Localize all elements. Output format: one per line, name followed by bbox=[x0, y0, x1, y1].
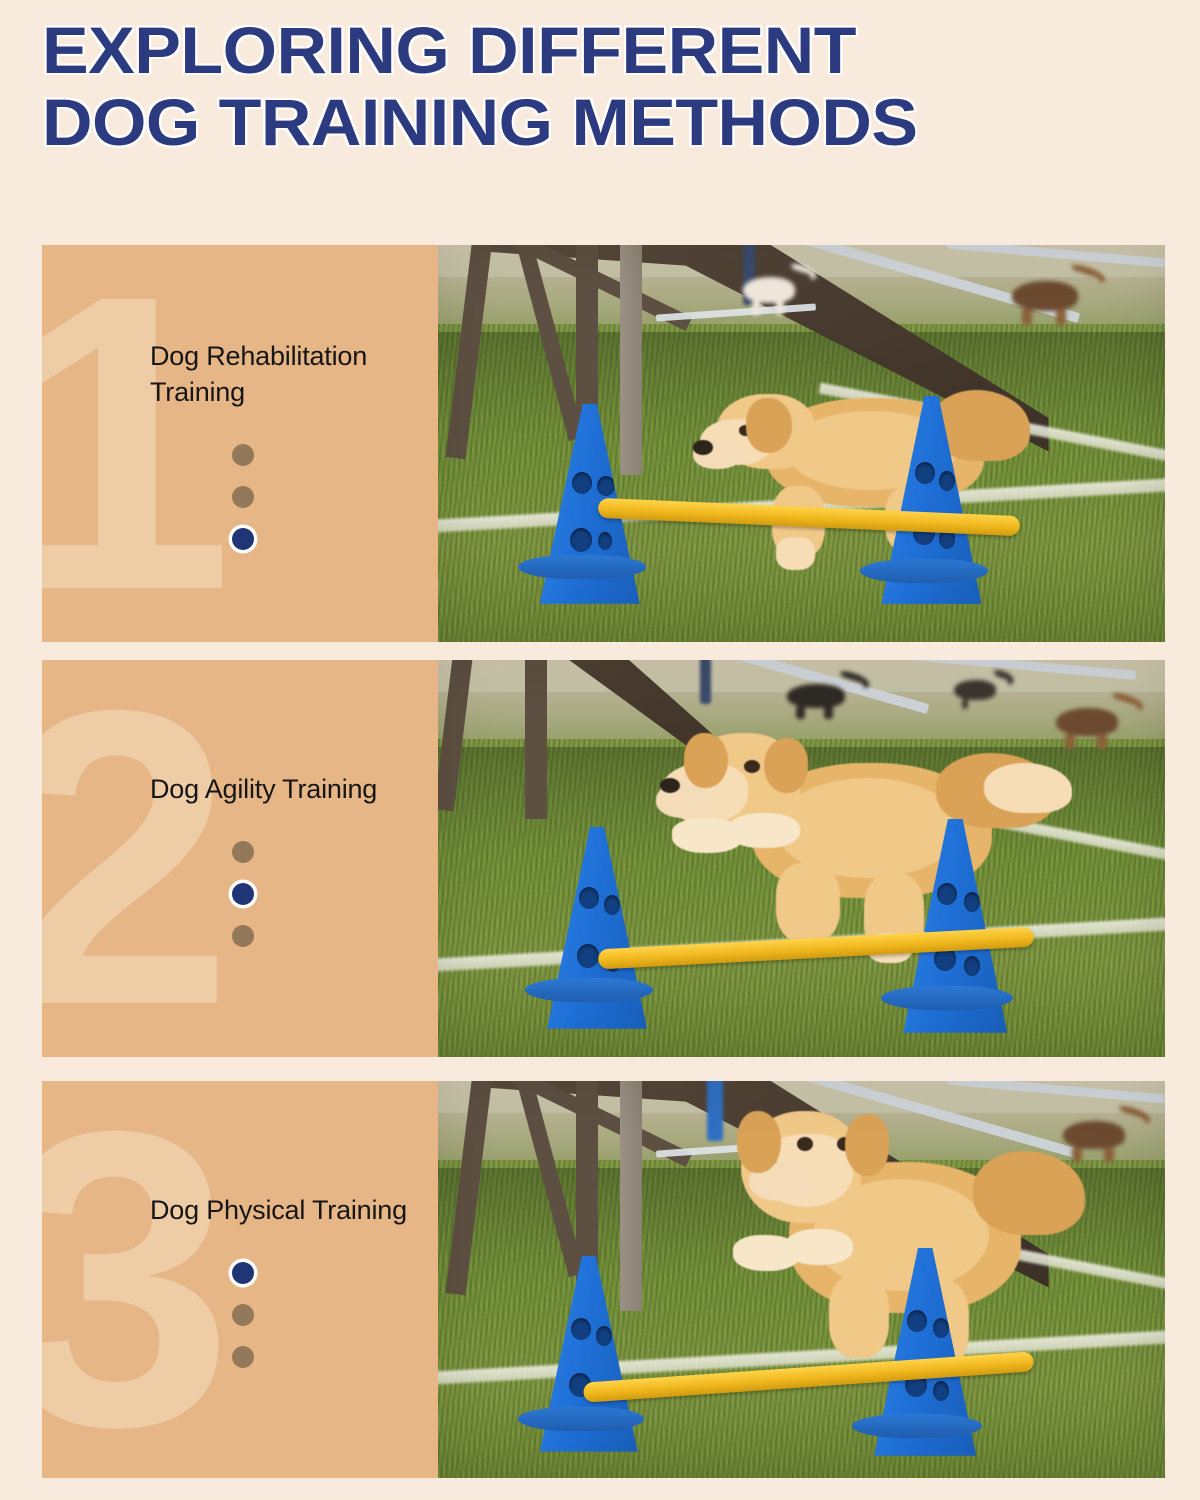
page-title-line-1: EXPLORING DIFFERENT bbox=[42, 14, 1200, 86]
card-info-panel: 3 Dog Physical Training bbox=[42, 1081, 438, 1478]
background-dog-icon bbox=[954, 680, 996, 700]
card-content: Dog Rehabilitation Training bbox=[150, 245, 438, 642]
background-dog-icon bbox=[1012, 281, 1078, 311]
cone-base-icon bbox=[852, 1414, 982, 1438]
card-photo bbox=[438, 1081, 1165, 1478]
ramp-post-icon bbox=[620, 245, 642, 475]
background-dog-icon bbox=[1056, 708, 1118, 736]
step-dot[interactable] bbox=[232, 486, 254, 508]
background-person-icon bbox=[700, 660, 711, 704]
card-label: Dog Physical Training bbox=[150, 1192, 438, 1228]
card-label: Dog Agility Training bbox=[150, 771, 438, 807]
background-dog-icon bbox=[743, 277, 795, 303]
card-step-indicator[interactable] bbox=[232, 1262, 438, 1368]
training-method-card[interactable]: 2 Dog Agility Training bbox=[42, 660, 1165, 1057]
step-dot[interactable] bbox=[232, 444, 254, 466]
step-dot[interactable] bbox=[232, 841, 254, 863]
page-title: EXPLORING DIFFERENT DOG TRAINING METHODS bbox=[42, 14, 1162, 158]
background-dog-icon bbox=[787, 684, 845, 708]
page-title-line-2: DOG TRAINING METHODS bbox=[42, 86, 1200, 158]
golden-retriever bbox=[685, 1089, 1085, 1369]
card-photo bbox=[438, 245, 1165, 642]
training-method-card[interactable]: 1 Dog Rehabilitation Training bbox=[42, 245, 1165, 642]
golden-retriever bbox=[700, 360, 1030, 570]
step-dot[interactable] bbox=[232, 1304, 254, 1326]
card-content: Dog Physical Training bbox=[150, 1081, 438, 1478]
cone-base-icon bbox=[525, 978, 653, 1002]
card-info-panel: 1 Dog Rehabilitation Training bbox=[42, 245, 438, 642]
training-method-card[interactable]: 3 Dog Physical Training bbox=[42, 1081, 1165, 1478]
step-dot-active[interactable] bbox=[232, 883, 254, 905]
card-info-panel: 2 Dog Agility Training bbox=[42, 660, 438, 1057]
step-dot-active[interactable] bbox=[232, 528, 254, 550]
card-step-indicator[interactable] bbox=[232, 841, 438, 947]
cone-base-icon bbox=[518, 1407, 644, 1431]
ramp-beam-icon bbox=[525, 660, 547, 819]
cone-base-icon bbox=[860, 559, 988, 583]
ramp-post-icon bbox=[620, 1081, 642, 1311]
step-dot-active[interactable] bbox=[232, 1262, 254, 1284]
cone-base-icon bbox=[881, 986, 1013, 1010]
step-dot[interactable] bbox=[232, 925, 254, 947]
card-step-indicator[interactable] bbox=[232, 444, 438, 550]
card-label: Dog Rehabilitation Training bbox=[150, 338, 438, 410]
card-photo bbox=[438, 660, 1165, 1057]
golden-retriever bbox=[656, 708, 1056, 958]
cone-base-icon bbox=[518, 555, 646, 579]
card-content: Dog Agility Training bbox=[150, 660, 438, 1057]
step-dot[interactable] bbox=[232, 1346, 254, 1368]
